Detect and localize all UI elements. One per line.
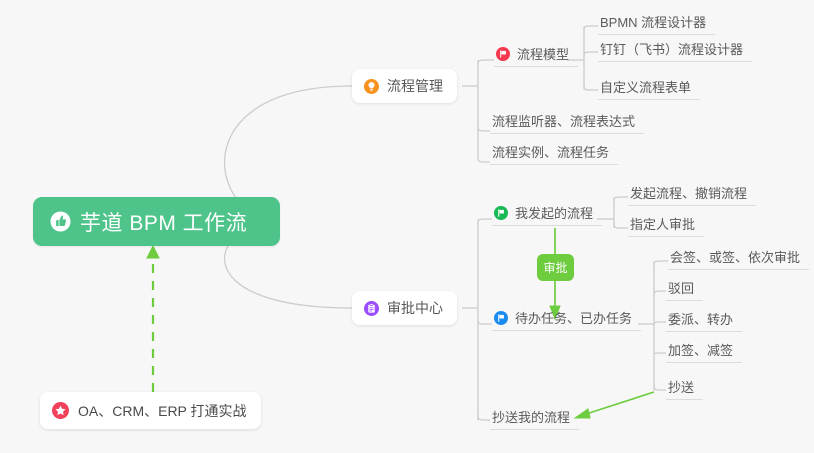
leaf-reject[interactable]: 驳回: [666, 275, 703, 301]
root-label: 芋道 BPM 工作流: [80, 207, 247, 237]
branch-label: 审批中心: [387, 298, 443, 318]
thumbs-up-icon: [50, 211, 71, 232]
leaf-label: 指定人审批: [630, 214, 695, 233]
branch-process-management[interactable]: 流程管理: [352, 69, 457, 103]
node-process-model[interactable]: 流程模型: [494, 41, 578, 67]
leaf-label: BPMN 流程设计器: [600, 12, 706, 31]
node-label: 流程实例、流程任务: [492, 142, 609, 161]
leaf-bpmn-designer[interactable]: BPMN 流程设计器: [598, 9, 715, 35]
star-icon: [52, 402, 69, 419]
leaf-label: 加签、减签: [668, 340, 733, 359]
node-cc-to-me-processes[interactable]: 抄送我的流程: [490, 404, 579, 430]
lightbulb-icon: [364, 79, 379, 94]
node-label: 待办任务、已办任务: [515, 308, 632, 327]
mindmap-canvas: 芋道 BPM 工作流 流程管理 流程模型 BPMN 流程设计器 钉钉（飞书: [0, 0, 814, 453]
node-process-instance-task[interactable]: 流程实例、流程任务: [490, 139, 618, 165]
leaf-label: 钉钉（飞书）流程设计器: [600, 39, 743, 58]
node-label: 抄送我的流程: [492, 407, 570, 426]
node-process-listener-expression[interactable]: 流程监听器、流程表达式: [490, 108, 644, 134]
node-todo-done-tasks[interactable]: 待办任务、已办任务: [492, 305, 641, 331]
leaf-label: 自定义流程表单: [600, 77, 691, 96]
approval-pill-label: 审批: [543, 259, 567, 276]
leaf-label: 发起流程、撤销流程: [630, 183, 747, 202]
leaf-delegate-transfer[interactable]: 委派、转办: [666, 306, 742, 332]
integration-card[interactable]: OA、CRM、ERP 打通实战: [40, 392, 261, 429]
root-node[interactable]: 芋道 BPM 工作流: [33, 197, 280, 246]
flag-icon: [494, 206, 508, 220]
leaf-countersign-or-sequential[interactable]: 会签、或签、依次审批: [668, 244, 809, 270]
branch-label: 流程管理: [387, 76, 443, 96]
leaf-designated-approver[interactable]: 指定人审批: [628, 211, 704, 237]
flag-icon: [496, 47, 510, 61]
cc-flow-arrow: [575, 392, 654, 418]
integration-dashed-arrow: [147, 246, 159, 392]
flag-icon: [494, 311, 508, 325]
node-my-initiated-processes[interactable]: 我发起的流程: [492, 200, 602, 226]
leaf-add-remove-signer[interactable]: 加签、减签: [666, 337, 742, 363]
leaf-custom-process-form[interactable]: 自定义流程表单: [598, 74, 700, 100]
node-label: 流程监听器、流程表达式: [492, 111, 635, 130]
branch-approval-center[interactable]: 审批中心: [352, 291, 457, 325]
leaf-label: 会签、或签、依次审批: [670, 247, 800, 266]
leaf-dingtalk-feishu-designer[interactable]: 钉钉（飞书）流程设计器: [598, 36, 752, 62]
approval-pill: 审批: [537, 254, 574, 281]
integration-card-label: OA、CRM、ERP 打通实战: [78, 401, 247, 421]
node-label: 流程模型: [517, 44, 569, 63]
leaf-label: 驳回: [668, 278, 694, 297]
leaf-label: 委派、转办: [668, 309, 733, 328]
leaf-carbon-copy[interactable]: 抄送: [666, 374, 703, 400]
clipboard-icon: [364, 301, 379, 316]
node-label: 我发起的流程: [515, 203, 593, 222]
leaf-label: 抄送: [668, 377, 694, 396]
leaf-start-cancel-process[interactable]: 发起流程、撤销流程: [628, 180, 756, 206]
